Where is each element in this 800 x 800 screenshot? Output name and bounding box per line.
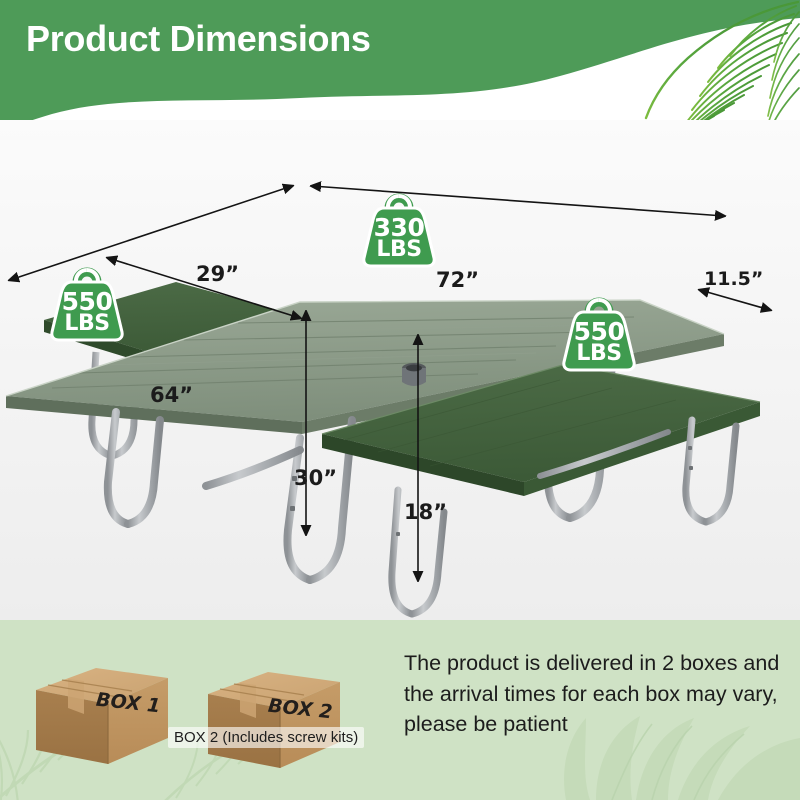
dimension-label-18: 18” [404, 500, 447, 524]
weight-badge-left-bench: 550 LBS [44, 258, 130, 342]
dimension-label-30: 30” [294, 466, 337, 490]
weight-unit: LBS [556, 343, 642, 365]
box-2-caption: BOX 2 (Includes screw kits) [168, 727, 364, 748]
product-dimensions-infographic: Product Dimensions [0, 0, 800, 800]
weight-unit: LBS [356, 239, 442, 261]
dimension-label-72: 72” [436, 268, 479, 292]
weight-unit: LBS [44, 313, 130, 335]
dimension-label-64: 64” [150, 383, 193, 407]
umbrella-hole-icon [402, 363, 426, 386]
dimension-label-11-5: 11.5” [704, 268, 763, 290]
delivery-message: The product is delivered in 2 boxes and … [404, 648, 786, 740]
weight-badge-tabletop: 330 LBS [356, 184, 442, 268]
page-title: Product Dimensions [26, 18, 371, 60]
weight-badge-right-bench: 550 LBS [556, 288, 642, 372]
dimension-label-29: 29” [196, 262, 239, 286]
